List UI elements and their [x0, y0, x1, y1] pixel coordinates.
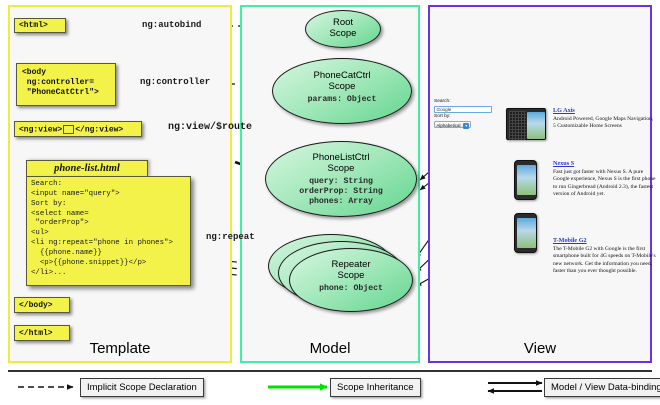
- legend-label: Model / View Data-binding: [544, 378, 660, 397]
- template-html-close: </html>: [14, 325, 70, 341]
- sort-label: Sort by:: [434, 114, 496, 120]
- legend-label: Scope Inheritance: [330, 378, 421, 397]
- list-item[interactable]: Nexus S Fast just got faster with Nexus …: [553, 160, 657, 199]
- edge-label-ngview-route: ng:view/$route: [168, 122, 252, 133]
- nexus-s-phone-icon: [514, 160, 537, 200]
- scope-repeater: RepeaterScope phone: Object: [289, 248, 413, 312]
- phone-name-link[interactable]: T-Mobile G2: [553, 237, 657, 244]
- callout-code: Search: <input name="query"> Sort by: <s…: [26, 176, 191, 286]
- callout-title: phone-list.html: [26, 160, 148, 176]
- ngview-slot-icon: [63, 125, 74, 134]
- ngview-open-text: <ng:view>: [19, 126, 62, 135]
- edge-label-autobind: ng:autobind: [142, 20, 201, 30]
- scope-phonecatctrl-name: PhoneCatCtrlScope: [273, 71, 411, 92]
- legend-label: Implicit Scope Declaration: [80, 378, 204, 397]
- phone-snippet: Fast just got faster with Nexus S. A pur…: [553, 169, 657, 199]
- sort-select-value: Alphabetical: [437, 123, 461, 128]
- scope-repeater-name: RepeaterScope: [290, 260, 412, 281]
- lg-axis-phone-icon: [506, 108, 546, 140]
- scope-root: RootScope: [305, 10, 381, 48]
- edge-label-ngrepeat: ng:repeat: [206, 232, 255, 242]
- scope-phonecatctrl: PhoneCatCtrlScope params: Object: [272, 58, 412, 124]
- phone-screen: [527, 112, 545, 139]
- chevron-down-icon: ▾: [463, 123, 469, 129]
- view-search-form: Search: Google Sort by: Alphabetical▾: [434, 99, 496, 128]
- scope-phonelistctrl-props: query: String orderProp: String phones: …: [266, 177, 416, 207]
- list-item[interactable]: LG Axis Android Powered, Google Maps Nav…: [553, 107, 657, 131]
- search-input[interactable]: Google: [434, 106, 492, 113]
- phone-name-link[interactable]: LG Axis: [553, 107, 657, 114]
- panel-model-label: Model: [242, 340, 418, 357]
- diagram-canvas: Template <html> <body ng:controller= "Ph…: [0, 0, 660, 405]
- phone-screen: [517, 218, 536, 248]
- scope-phonecatctrl-props: params: Object: [273, 95, 411, 105]
- scope-phonelistctrl-name: PhoneListCtrlScope: [266, 153, 416, 174]
- panel-view-label: View: [430, 340, 650, 357]
- legend: Implicit Scope Declaration Scope Inherit…: [0, 370, 660, 405]
- sort-select[interactable]: Alphabetical▾: [434, 121, 471, 129]
- phone-snippet: Android Powered, Google Maps Navigation,…: [553, 116, 657, 131]
- scope-phonelistctrl: PhoneListCtrlScope query: String orderPr…: [265, 141, 417, 217]
- panel-template-label: Template: [10, 340, 230, 357]
- phone-screen: [517, 165, 536, 195]
- phone-snippet: The T-Mobile G2 with Google is the first…: [553, 246, 657, 276]
- scope-root-name: RootScope: [306, 18, 380, 39]
- ngview-close-text: </ng:view>: [75, 126, 123, 135]
- template-html-tag: <html>: [14, 18, 66, 33]
- template-ngview-tag: <ng:view></ng:view>: [14, 121, 142, 137]
- phone-keyboard: [509, 111, 526, 140]
- scope-repeater-props: phone: Object: [290, 284, 412, 294]
- list-item[interactable]: T-Mobile G2 The T-Mobile G2 with Google …: [553, 237, 657, 276]
- edge-label-controller: ng:controller: [140, 77, 210, 87]
- t-mobile-g2-phone-icon: [514, 213, 537, 253]
- template-body-tag: <body ng:controller= "PhoneCatCtrl">: [16, 63, 116, 106]
- search-label: Search:: [434, 99, 496, 105]
- phone-name-link[interactable]: Nexus S: [553, 160, 657, 167]
- template-body-close: </body>: [14, 297, 70, 313]
